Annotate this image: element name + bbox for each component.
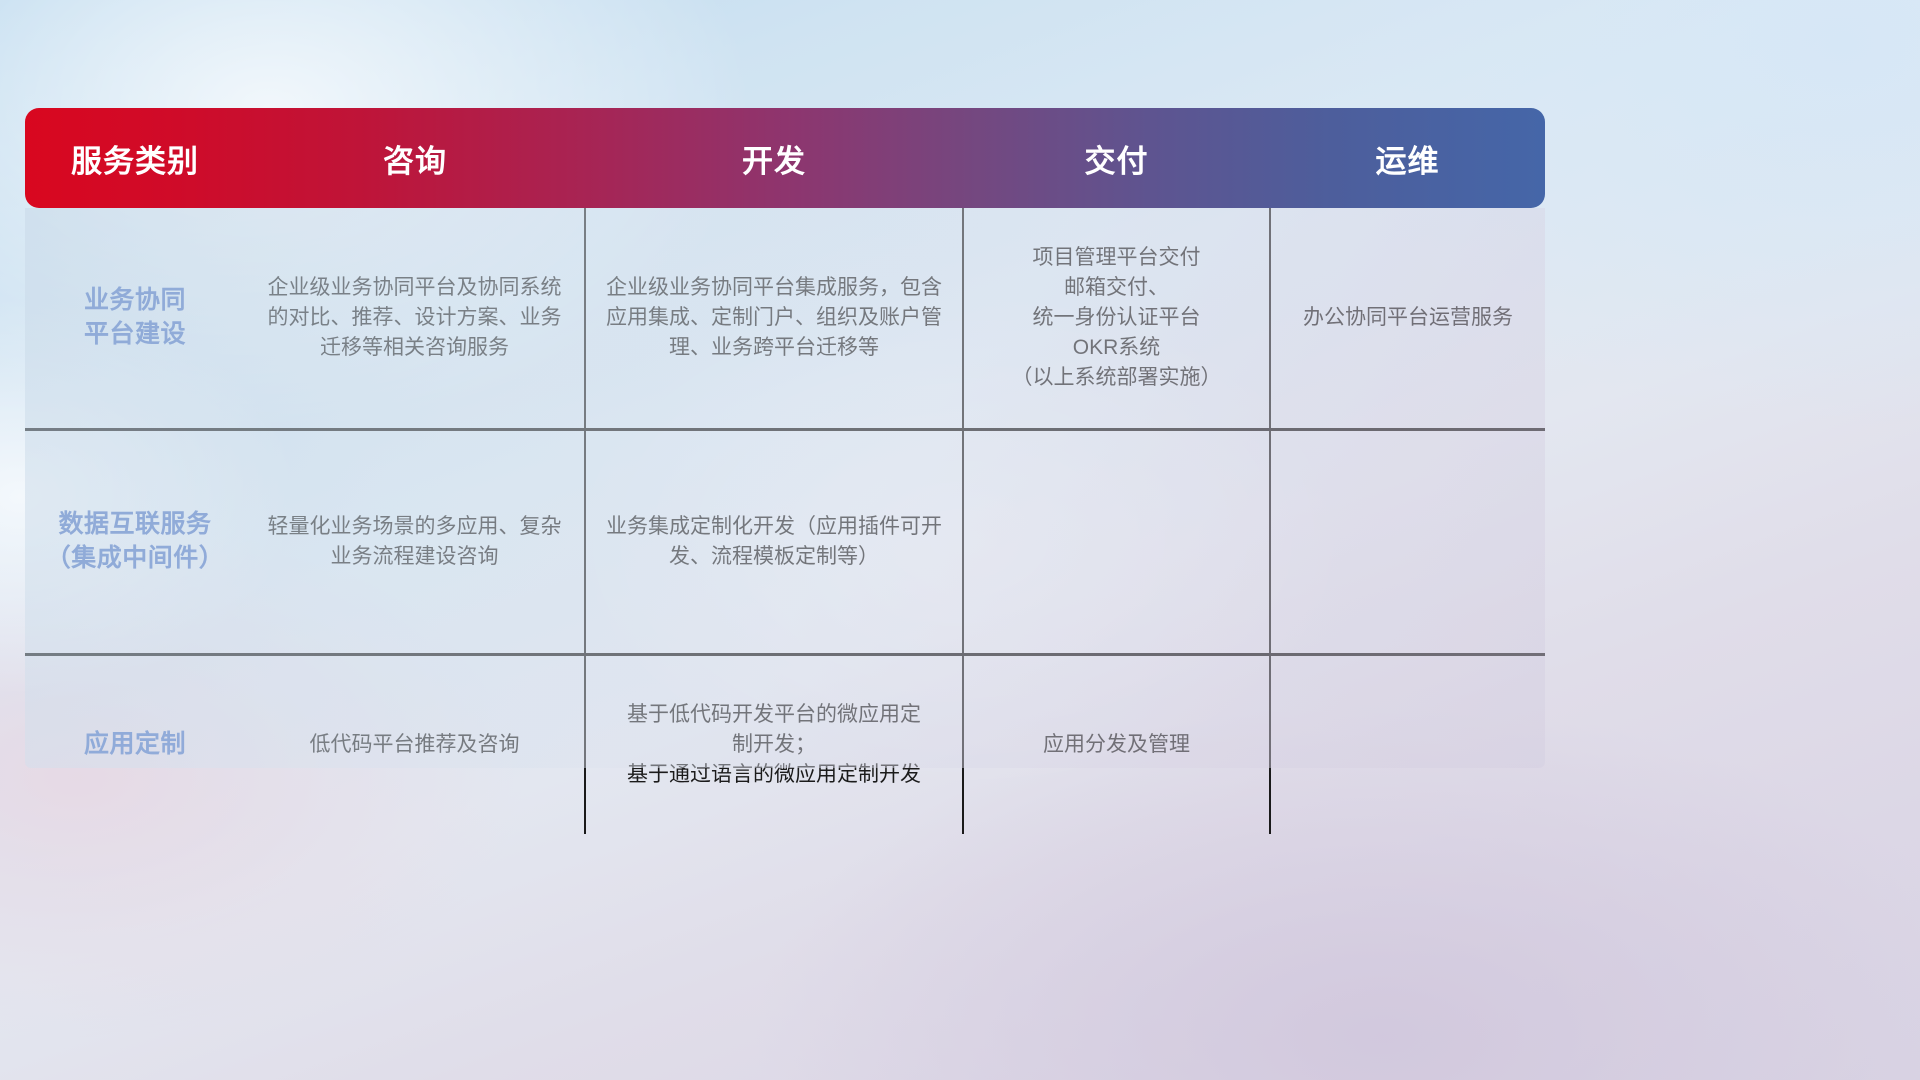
table-header: 服务类别 咨询 开发 交付 运维 bbox=[25, 108, 1545, 208]
table-body-backdrop bbox=[25, 208, 1545, 768]
column-header-operations[interactable]: 运维 bbox=[1270, 108, 1545, 208]
column-header-category[interactable]: 服务类别 bbox=[25, 108, 245, 208]
table-header-row: 服务类别 咨询 开发 交付 运维 bbox=[25, 108, 1545, 208]
column-header-consulting[interactable]: 咨询 bbox=[245, 108, 585, 208]
column-header-delivery[interactable]: 交付 bbox=[963, 108, 1270, 208]
column-header-development[interactable]: 开发 bbox=[585, 108, 963, 208]
service-matrix: 服务类别 咨询 开发 交付 运维 业务协同 平台建设 企业级业务协同平台及协同系… bbox=[25, 108, 1545, 834]
